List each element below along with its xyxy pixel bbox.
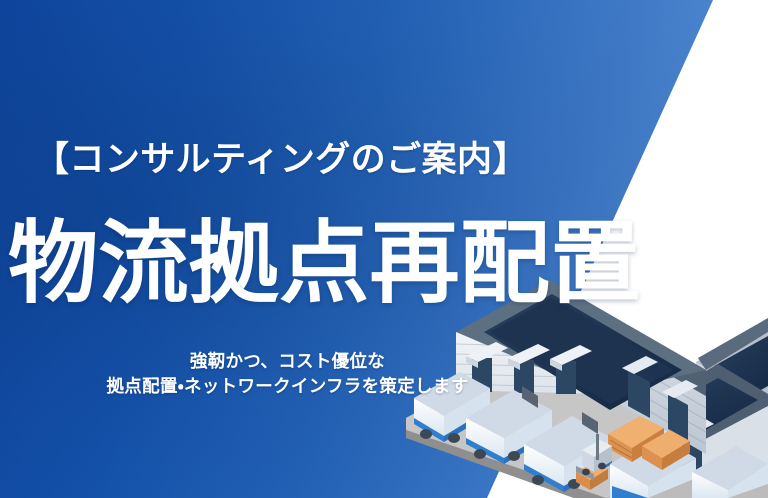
promotional-banner: 【コンサルティングのご案内】 物流拠点再配置 強靭かつ、コスト優位な 拠点配置・…	[0, 0, 768, 498]
banner-copy: 【コンサルティングのご案内】 物流拠点再配置 強靭かつ、コスト優位な 拠点配置・…	[0, 0, 640, 498]
banner-eyebrow: 【コンサルティングのご案内】	[34, 140, 528, 181]
banner-headline: 物流拠点再配置	[8, 218, 641, 310]
banner-subcopy: 強靭かつ、コスト優位な 拠点配置・ネットワークインフラを策定します	[0, 350, 575, 400]
banner-subcopy-line-2: 拠点配置・ネットワークインフラを策定します	[0, 375, 575, 400]
banner-subcopy-line-1: 強靭かつ、コスト優位な	[0, 350, 575, 375]
